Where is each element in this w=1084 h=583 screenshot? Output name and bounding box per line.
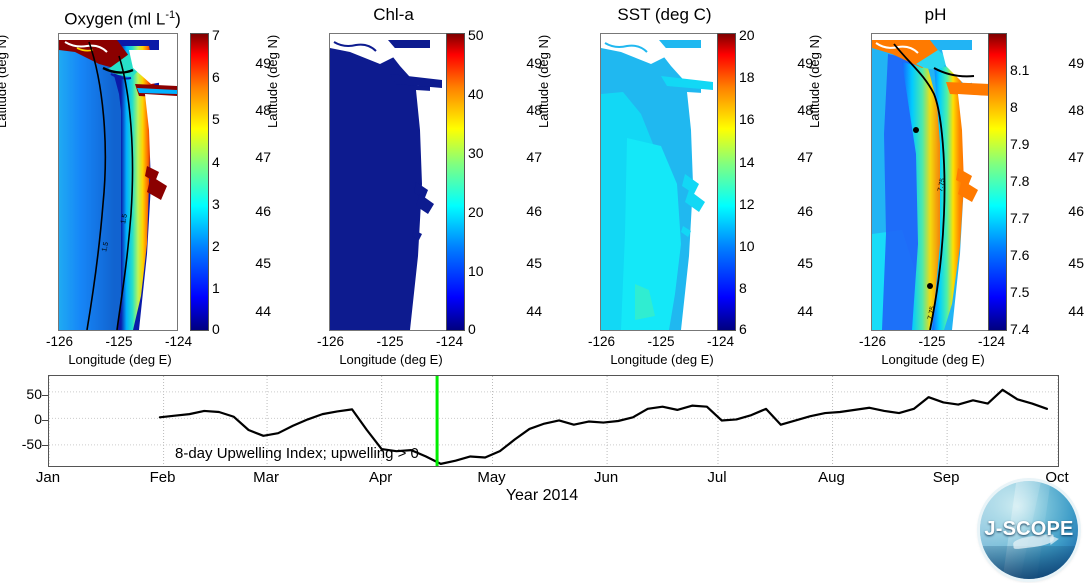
- ts-x-tick-jul: Jul: [707, 469, 726, 486]
- y-tick-48: 48: [1050, 102, 1084, 118]
- y-tick-46: 46: [779, 203, 813, 219]
- x-tick-126: -126: [588, 334, 615, 349]
- x-tick-126: -126: [317, 334, 344, 349]
- upwelling-index-timeseries-panel: 50 0 -50 8-day Upwelling Index; upwellin…: [0, 365, 1084, 485]
- y-tick-47: 47: [237, 149, 271, 165]
- map-panel-sst: SST (deg C) Latitude (deg N) 49 48 47 46…: [542, 0, 813, 365]
- y-axis-label: Latitude (deg N): [265, 35, 280, 128]
- x-tick-125: -125: [376, 334, 403, 349]
- panel-title-ph: pH: [813, 4, 1058, 26]
- seafloor-shade: [980, 546, 1078, 579]
- x-ticks: -126 -125 -124: [46, 334, 192, 349]
- ts-x-tick-jun: Jun: [594, 469, 618, 486]
- x-tick-124: -124: [165, 334, 192, 349]
- x-ticks: -126 -125 -124: [317, 334, 463, 349]
- x-tick-126: -126: [859, 334, 886, 349]
- y-axis-label: Latitude (deg N): [536, 35, 551, 128]
- ts-x-axis-label: Year 2014: [0, 487, 1084, 505]
- panel-title-text: Oxygen (ml L: [64, 10, 165, 29]
- map-panel-ph: pH Latitude (deg N) 49 48 47 46 45 44: [813, 0, 1084, 365]
- jscope-logo[interactable]: J-SCOPE: [980, 481, 1078, 579]
- y-tick-46: 46: [508, 203, 542, 219]
- y-tick-44: 44: [237, 303, 271, 319]
- y-tick-47: 47: [779, 149, 813, 165]
- x-tick-126: -126: [46, 334, 73, 349]
- x-tick-124: -124: [436, 334, 463, 349]
- y-axis-label: Latitude (deg N): [0, 35, 9, 128]
- y-tick-45: 45: [508, 255, 542, 271]
- x-tick-125: -125: [918, 334, 945, 349]
- jscope-logo-text: J-SCOPE: [980, 518, 1078, 541]
- ts-y-tick-0: 0: [6, 411, 42, 427]
- ts-x-tick-feb: Feb: [150, 469, 176, 486]
- y-tick-44: 44: [779, 303, 813, 319]
- ts-x-tick-mar: Mar: [253, 469, 279, 486]
- colorbar-chlorophyll-a[interactable]: [446, 33, 465, 331]
- y-tick-49: 49: [1050, 55, 1084, 71]
- panel-title-text: pH: [925, 5, 947, 24]
- ts-x-tick-sep: Sep: [933, 469, 960, 486]
- y-tick-45: 45: [237, 255, 271, 271]
- map-canvas-oxygen[interactable]: 1.5 1.5: [58, 33, 178, 331]
- upwelling-note: 8-day Upwelling Index; upwelling > 0: [175, 445, 419, 462]
- y-tick-44: 44: [1050, 303, 1084, 319]
- panel-title-text: Chl-a: [373, 5, 414, 24]
- sst-field-svg: [601, 34, 719, 330]
- x-ticks: -126 -125 -124: [859, 334, 1005, 349]
- map-canvas-ph[interactable]: 7.75 7.75: [871, 33, 991, 331]
- panel-title-text: SST (deg C): [617, 5, 711, 24]
- y-tick-45: 45: [779, 255, 813, 271]
- map-canvas-chlorophyll-a[interactable]: [329, 33, 449, 331]
- x-ticks: -126 -125 -124: [588, 334, 734, 349]
- panel-title-tail: ): [175, 10, 181, 29]
- colorbar-oxygen[interactable]: [190, 33, 209, 331]
- colorbar-sst[interactable]: [717, 33, 736, 331]
- chlorophyll-field-svg: [330, 34, 448, 330]
- colorbar-ph[interactable]: [988, 33, 1007, 331]
- x-tick-124: -124: [707, 334, 734, 349]
- y-axis-label: Latitude (deg N): [807, 35, 822, 128]
- x-tick-125: -125: [105, 334, 132, 349]
- map-panel-oxygen: Oxygen (ml L-1) Latitude (deg N) 49 48 4…: [0, 0, 271, 365]
- ts-y-tick--50: -50: [6, 436, 42, 452]
- ts-x-tick-may: May: [477, 469, 505, 486]
- ts-x-tick-aug: Aug: [818, 469, 845, 486]
- panel-title-chlorophyll-a: Chl-a: [271, 4, 516, 26]
- panel-title-oxygen: Oxygen (ml L-1): [0, 4, 245, 31]
- oxygen-field-svg: 1.5 1.5: [59, 34, 177, 330]
- ts-y-tick-50: 50: [6, 386, 42, 402]
- map-canvas-sst[interactable]: [600, 33, 720, 331]
- y-tick-47: 47: [508, 149, 542, 165]
- y-tick-45: 45: [1050, 255, 1084, 271]
- ts-x-tick-apr: Apr: [369, 469, 392, 486]
- y-tick-44: 44: [508, 303, 542, 319]
- y-tick-46: 46: [1050, 203, 1084, 219]
- y-tick-46: 46: [237, 203, 271, 219]
- panel-title-superscript: -1: [165, 9, 175, 21]
- map-panels-row: Oxygen (ml L-1) Latitude (deg N) 49 48 4…: [0, 0, 1084, 365]
- y-tick-47: 47: [1050, 149, 1084, 165]
- x-tick-125: -125: [647, 334, 674, 349]
- ph-field-svg: 7.75 7.75: [872, 34, 990, 330]
- panel-title-sst: SST (deg C): [542, 4, 787, 26]
- map-panel-chlorophyll-a: Chl-a Latitude (deg N) 49 48 47 46 45 44…: [271, 0, 542, 365]
- ts-x-tick-jan: Jan: [36, 469, 60, 486]
- x-tick-124: -124: [978, 334, 1005, 349]
